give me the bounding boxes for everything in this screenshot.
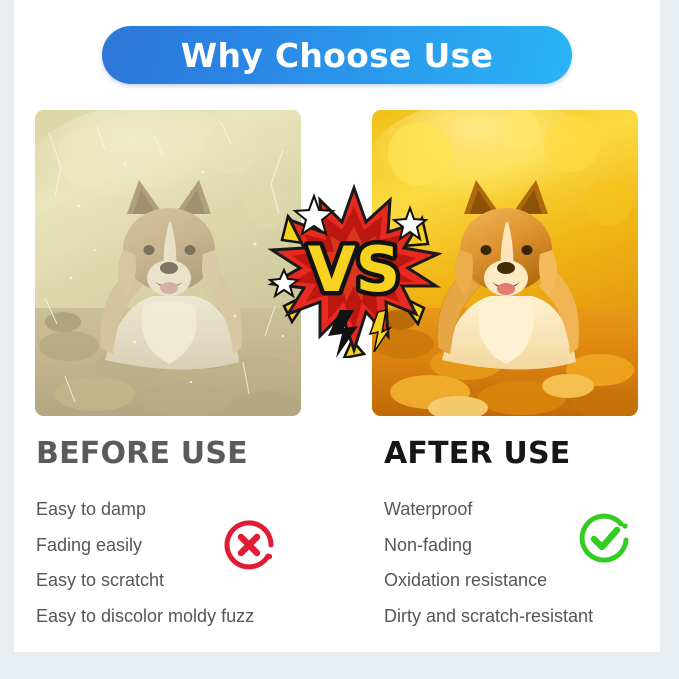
photo-row (14, 110, 660, 422)
banner-container: Why Choose Use (14, 26, 660, 84)
after-use-heading: AFTER USE (384, 436, 570, 471)
comparison-infographic: Why Choose Use (0, 0, 679, 679)
after-photo (372, 110, 638, 416)
check-circle-glyph (571, 506, 637, 572)
list-item: Easy to discolor moldy fuzz (36, 599, 346, 635)
list-item: Dirty and scratch-resistant (384, 599, 679, 635)
cross-circle-icon (216, 512, 282, 578)
cross-circle-glyph (216, 512, 282, 578)
title-banner: Why Choose Use (102, 26, 572, 84)
before-photo (35, 110, 301, 416)
content-card: Why Choose Use (14, 0, 660, 652)
column-headings: BEFORE USE AFTER USE (14, 436, 660, 482)
before-photo-image (35, 110, 301, 416)
list-item: Easy to damp (36, 492, 346, 528)
before-use-heading: BEFORE USE (36, 436, 248, 471)
list-item: Easy to scratcht (36, 563, 346, 599)
list-item: Fading easily (36, 528, 346, 564)
page-title: Why Choose Use (181, 36, 493, 75)
before-feature-list: Easy to damp Fading easily Easy to scrat… (36, 492, 346, 634)
feature-lists: Easy to damp Fading easily Easy to scrat… (14, 492, 660, 637)
check-circle-icon (571, 506, 637, 572)
after-photo-image (372, 110, 638, 416)
